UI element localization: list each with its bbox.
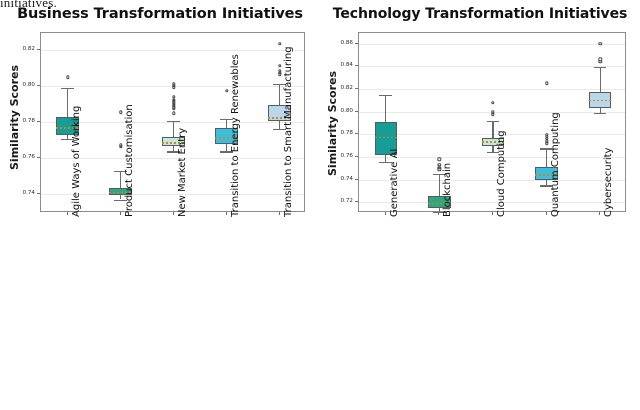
figure-page: initiatives. Business Transformation Ini… (0, 0, 640, 410)
y-tick-label: 0.76 (12, 154, 35, 160)
y-tick-label: 0.78 (330, 130, 353, 136)
outlier-point (225, 89, 228, 92)
y-tick-label: 0.74 (330, 176, 353, 182)
y-tick-label: 0.80 (330, 108, 353, 114)
whisker-cap-lower (594, 113, 607, 114)
x-tick-mark (438, 212, 439, 215)
whisker-cap-upper (379, 95, 392, 96)
y-tick-mark (37, 157, 40, 158)
x-axis-category-label: New Market Entry (177, 128, 188, 217)
outlier-point (545, 81, 548, 84)
outlier-point (66, 76, 69, 79)
y-tick-label: 0.78 (12, 118, 35, 124)
outlier-point (119, 110, 122, 113)
y-tick-label: 0.76 (330, 153, 353, 159)
x-tick-mark (120, 212, 121, 215)
x-axis-category-label: Agile Ways of Working (71, 106, 82, 217)
x-tick-mark (279, 212, 280, 215)
outlier-point (172, 107, 175, 110)
whisker-line (492, 121, 493, 152)
y-tick-mark (355, 179, 358, 180)
x-tick-mark (385, 212, 386, 215)
y-tick-label: 0.82 (12, 46, 35, 52)
chart-title-business: Business Transformation Initiatives (0, 6, 320, 22)
gridline (359, 66, 625, 67)
y-tick-label: 0.86 (330, 40, 353, 46)
x-axis-category-label: Generative AI (389, 149, 400, 217)
y-tick-label: 0.82 (330, 85, 353, 91)
y-tick-mark (355, 43, 358, 44)
outlier-point (278, 64, 281, 67)
outlier-point (172, 112, 175, 115)
gridline (359, 44, 625, 45)
whisker-cap-upper (61, 88, 73, 89)
outlier-point (438, 158, 441, 161)
y-tick-mark (355, 201, 358, 202)
gridline (359, 89, 625, 90)
x-tick-mark (599, 212, 600, 215)
x-axis-category-label: Cloud Computing (496, 130, 507, 217)
outlier-point (491, 101, 494, 104)
y-tick-mark (37, 85, 40, 86)
y-tick-label: 0.74 (12, 190, 35, 196)
x-axis-category-label: Transition to Smart Manufacturing (283, 46, 294, 217)
gridline (41, 50, 304, 51)
outlier-point (491, 112, 494, 115)
median-line (375, 137, 398, 139)
y-tick-mark (37, 49, 40, 50)
x-axis-category-label: Quantum Computing (550, 112, 561, 217)
whisker-cap-upper (167, 121, 179, 122)
y-tick-mark (37, 121, 40, 122)
y-tick-mark (355, 65, 358, 66)
y-tick-label: 0.72 (330, 198, 353, 204)
y-tick-mark (355, 156, 358, 157)
x-tick-mark (492, 212, 493, 215)
y-tick-label: 0.80 (12, 82, 35, 88)
outlier-point (278, 42, 281, 45)
x-tick-mark (67, 212, 68, 215)
chart-title-technology: Technology Transformation Initiatives (320, 6, 640, 22)
whisker-cap-upper (594, 67, 607, 68)
outlier-point (119, 145, 122, 148)
x-tick-mark (173, 212, 174, 215)
y-tick-label: 0.84 (330, 62, 353, 68)
whisker-line (120, 171, 121, 200)
median-line (589, 100, 612, 102)
x-axis-category-label: Blockchain (442, 163, 453, 217)
x-tick-mark (226, 212, 227, 215)
y-tick-mark (37, 193, 40, 194)
y-tick-mark (355, 111, 358, 112)
outlier-point (438, 168, 441, 171)
whisker-cap-upper (487, 121, 500, 122)
chart-panel-business: Business Transformation Initiatives Simi… (0, 0, 320, 410)
x-axis-category-label: Cybersecurity (603, 148, 614, 217)
y-tick-mark (355, 133, 358, 134)
outlier-point (545, 141, 548, 144)
outlier-point (278, 73, 281, 76)
outlier-point (598, 60, 601, 63)
chart-panel-technology: Technology Transformation Initiatives Si… (320, 0, 640, 410)
outlier-point (172, 86, 175, 89)
x-axis-category-label: Product Customisation (124, 104, 135, 217)
y-tick-mark (355, 88, 358, 89)
x-tick-mark (546, 212, 547, 215)
x-axis-category-label: Transition to Energy Renewables (230, 54, 241, 217)
